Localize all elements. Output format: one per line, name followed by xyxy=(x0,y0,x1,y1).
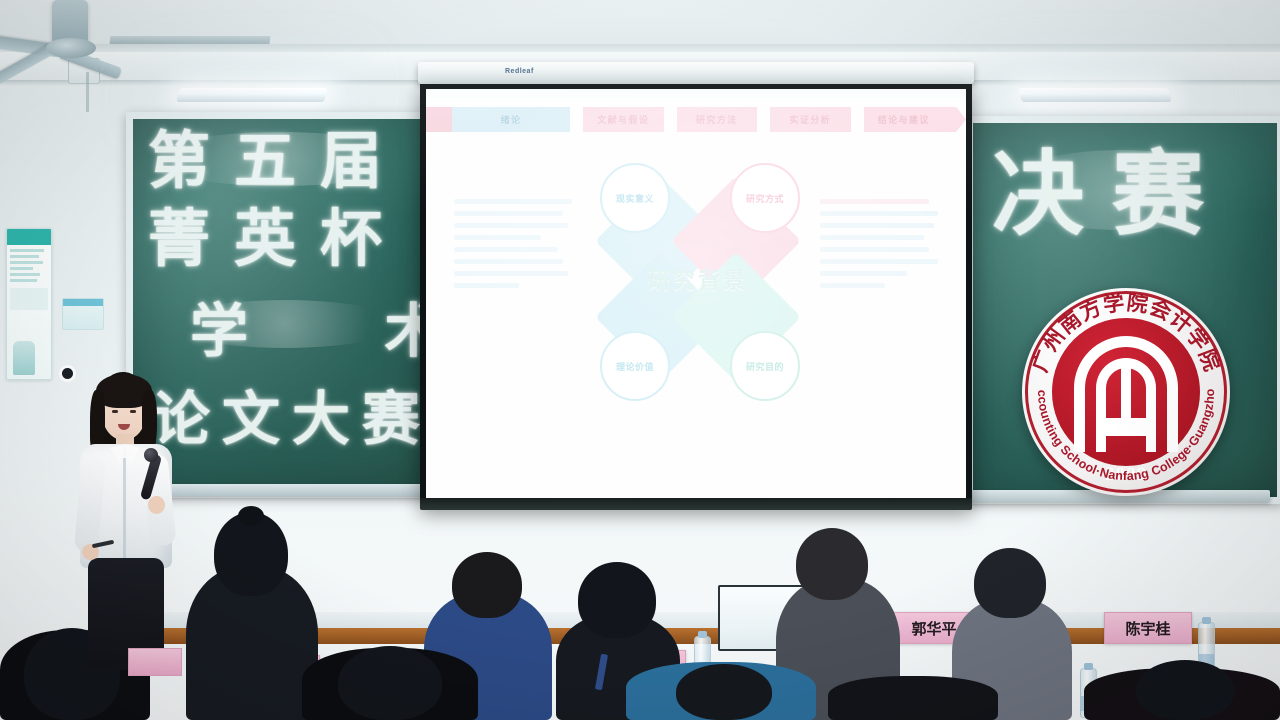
screen-bottom-bar xyxy=(420,498,972,510)
blackboard-text-line4: 论文大赛 xyxy=(152,390,432,448)
presentation-slide: 绪论 ❯ 文献与假设 ❯ 研究方法 ❯ 实证分析 ❯ 结论与建议 xyxy=(426,89,966,502)
nav-arrow-icon: ❯ xyxy=(570,107,583,132)
nav-step-0[interactable]: 绪论 xyxy=(452,107,570,132)
projector-screen-housing xyxy=(418,62,974,84)
audience-head xyxy=(452,552,522,618)
audience-head xyxy=(796,528,868,600)
diagram-node-bottom-right: 研究目的 xyxy=(730,331,800,401)
diagram-node-top-left: 现实意义 xyxy=(600,163,670,233)
fluorescent-light-icon xyxy=(176,88,328,102)
audience-head xyxy=(578,562,656,638)
audience-head xyxy=(974,548,1046,618)
presenter-hand-right xyxy=(148,496,165,514)
fan-hub xyxy=(46,38,96,58)
screen-brand-label: Redleaf xyxy=(505,68,534,75)
presenter-eye xyxy=(130,410,136,413)
blackboard-right-text: 决赛 xyxy=(992,148,1232,240)
nav-step-4-label: 结论与建议 xyxy=(878,113,930,126)
presenter-notes xyxy=(128,648,182,676)
school-emblem: 广州南方学院会计学院 2009 Accounting School·Nanfan… xyxy=(1022,288,1230,496)
emblem-en-textpath: Accounting School·Nanfang College·Guangz… xyxy=(1022,288,1217,483)
nav-step-0-label: 绪论 xyxy=(501,113,522,126)
nav-step-1[interactable]: 文献与假设 xyxy=(583,107,664,132)
nav-arrow-icon: ❯ xyxy=(757,107,770,132)
audience-head xyxy=(1136,660,1234,720)
curtain-rail xyxy=(109,36,270,44)
diagram-node-top-right: 研究方式 xyxy=(730,163,800,233)
nav-step-2[interactable]: 研究方法 xyxy=(677,107,758,132)
projection-screen: 绪论 ❯ 文献与假设 ❯ 研究方法 ❯ 实证分析 ❯ 结论与建议 xyxy=(426,89,966,502)
nav-step-3-label: 实证分析 xyxy=(789,113,831,126)
nav-step-1-label: 文献与假设 xyxy=(597,113,649,126)
ceiling-fan-icon xyxy=(0,0,130,70)
slide-body: 研究背景 现实意义 研究方式 理论价值 研究目的 xyxy=(426,137,966,502)
audience-head xyxy=(676,664,772,720)
slide-text-block-left xyxy=(454,199,572,288)
wall-notice-small xyxy=(62,298,104,330)
nav-arrow-icon: ❯ xyxy=(664,107,677,132)
wall-poster xyxy=(6,228,52,380)
nav-arrow-icon: ❯ xyxy=(851,107,864,132)
nav-step-2-label: 研究方法 xyxy=(696,113,738,126)
slide-diagram: 研究背景 现实意义 研究方式 理论价值 研究目的 xyxy=(578,159,818,399)
presenter-placket xyxy=(123,458,126,566)
slide-text-block-right xyxy=(820,199,938,288)
presenter-eye xyxy=(112,410,118,413)
nav-step-3[interactable]: 实证分析 xyxy=(770,107,851,132)
presenter xyxy=(62,368,190,668)
slide-top-band xyxy=(426,89,966,105)
classroom-scene: 第五届 菁英杯 学 术 论文大赛 决赛 广州南方学院会计学院 2009 Acco… xyxy=(0,0,1280,720)
blackboard-text-line2: 菁英杯 xyxy=(148,208,406,270)
hair-bun xyxy=(238,506,264,526)
emblem-english-text: Accounting School·Nanfang College·Guangz… xyxy=(1022,288,1230,496)
audience-head xyxy=(338,646,442,720)
nav-end-cap xyxy=(944,107,966,132)
slide-nav-bar: 绪论 ❯ 文献与假设 ❯ 研究方法 ❯ 实证分析 ❯ 结论与建议 xyxy=(426,107,966,132)
blackboard-text-line1: 第五届 xyxy=(148,130,406,192)
diagram-node-bottom-left: 理论价值 xyxy=(600,331,670,401)
nav-step-4[interactable]: 结论与建议 xyxy=(864,107,945,132)
svg-text:Accounting School·Nanfang Coll: Accounting School·Nanfang College·Guangz… xyxy=(1022,288,1217,483)
nav-start-cap xyxy=(426,107,452,132)
fluorescent-light-icon xyxy=(1018,88,1171,102)
placard-4: 陈宇桂 xyxy=(1104,612,1192,644)
microphone-head xyxy=(144,448,158,462)
conduit xyxy=(86,72,89,112)
diagram-center-title: 研究背景 xyxy=(578,263,818,295)
audience-person-front xyxy=(828,676,998,720)
